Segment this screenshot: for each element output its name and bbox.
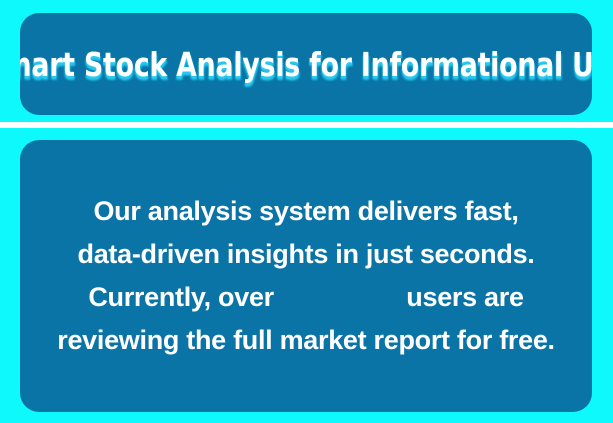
body-message: Our analysis system delivers fast, data-… [47,190,565,362]
counter-suffix-label: users are [406,282,523,312]
page-title: Smart Stock Analysis for Informational U… [20,48,592,81]
counter-prefix-label: Currently, over [88,282,274,312]
body-card: Our analysis system delivers fast, data-… [20,140,592,412]
page-root: Smart Stock Analysis for Informational U… [0,0,613,423]
header-card: Smart Stock Analysis for Informational U… [20,13,592,115]
body-line-2: data-driven insights in just seconds. [57,233,555,276]
body-line-1: Our analysis system delivers fast, [57,190,555,233]
body-line-4: reviewing the full market report for fre… [57,319,555,362]
body-line-3-counter: Currently, over users are [57,276,555,319]
section-divider [0,122,613,128]
